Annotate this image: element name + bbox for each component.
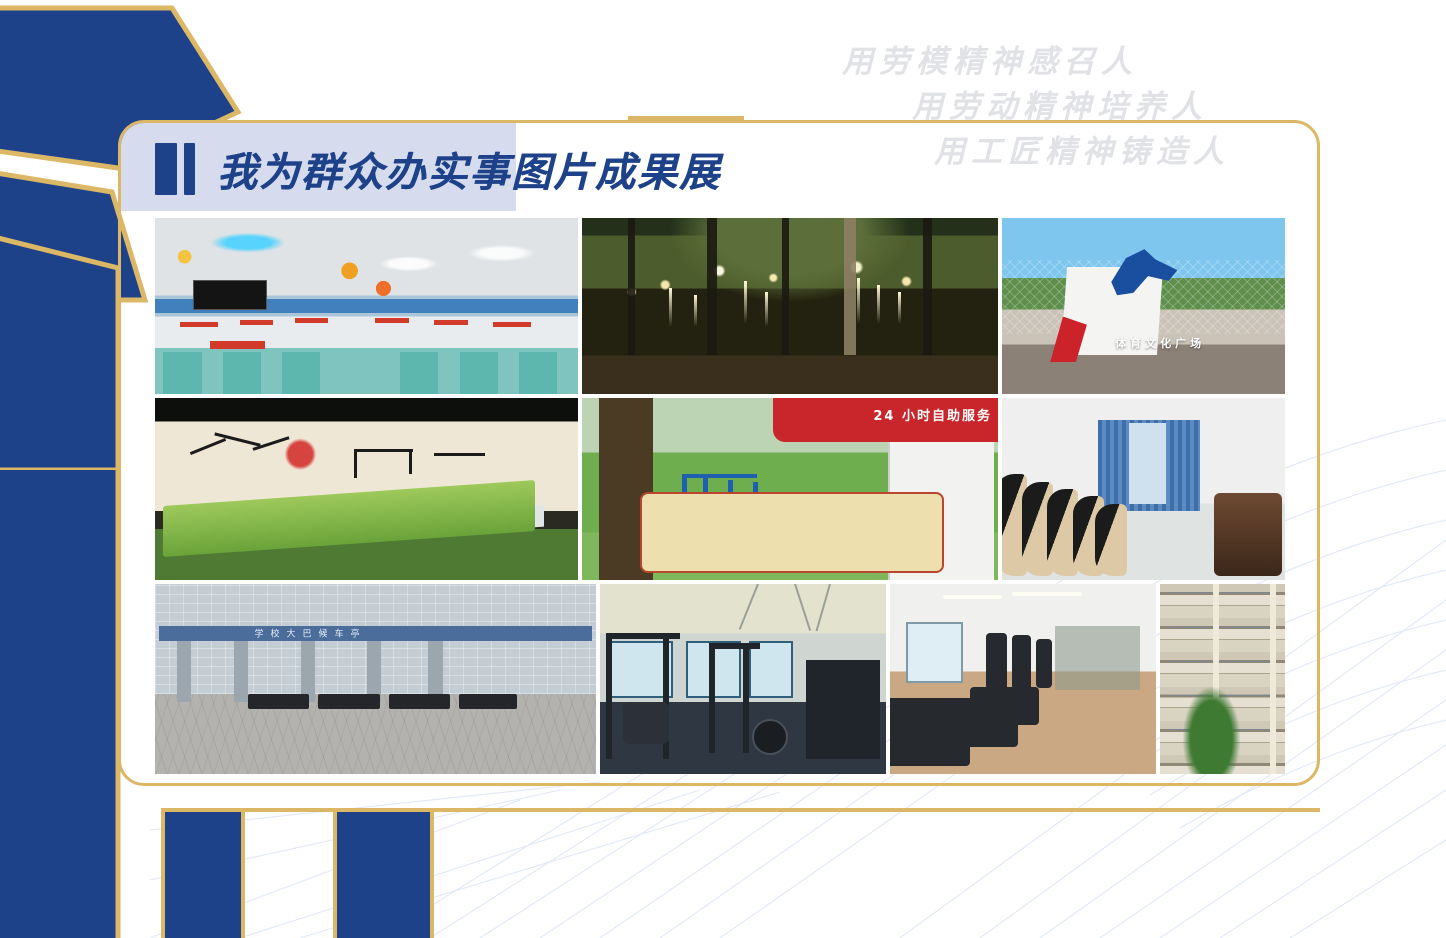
photo-cell-cardio-room[interactable] [890,584,1156,774]
plaza-sign-text: 体育文化广场 [1115,331,1262,356]
photo-cell-dormitory[interactable] [1160,584,1285,774]
photo-gallery-grid: 体育文化广场 24 小时自助服务 [155,218,1285,774]
massage-room-photo [1002,398,1285,580]
photo-cell-sports-plaza[interactable]: 体育文化广场 [1002,218,1285,394]
landscape-mural-photo [155,398,578,580]
slogan-line-2: 用劳动精神培养人 [700,85,1230,130]
photo-cell-massage-room[interactable] [1002,398,1285,580]
photo-cell-cafeteria[interactable] [155,218,578,394]
night-trees-photo [582,218,998,394]
photo-cell-self-service-kiosk[interactable]: 24 小时自助服务 [582,398,998,580]
page-title: 我为群众办实事图片成果展 [155,140,721,198]
cafeteria-photo [155,218,578,394]
slogan-line-1: 用劳模精神感召人 [700,40,1230,85]
kiosk-sign-text: 24 小时自助服务 [873,405,992,424]
self-service-kiosk-photo: 24 小时自助服务 [582,398,998,580]
cardio-room-photo [890,584,1156,774]
slogan-line-3: 用工匠精神铸造人 [700,130,1230,175]
sports-plaza-photo: 体育文化广场 [1002,218,1285,394]
photo-cell-landscape-mural[interactable] [155,398,578,580]
title-bar-mark-icon [155,143,195,195]
page-title-text: 我为群众办实事图片成果展 [217,140,721,198]
photo-cell-night-trees[interactable] [582,218,998,394]
bus-shelter-photo: 学校大巴候车亭 [155,584,596,774]
slogan-rule-left [628,116,744,121]
dormitory-photo [1160,584,1285,774]
photo-cell-weight-room[interactable] [600,584,886,774]
slogan-block: 用劳模精神感召人 用劳动精神培养人 用工匠精神铸造人 [700,40,1230,175]
bus-shelter-sign-text: 学校大巴候车亭 [254,627,366,640]
photo-cell-bus-shelter[interactable]: 学校大巴候车亭 [155,584,596,774]
bottom-decorative-bars [0,778,1446,938]
weight-room-photo [600,584,886,774]
